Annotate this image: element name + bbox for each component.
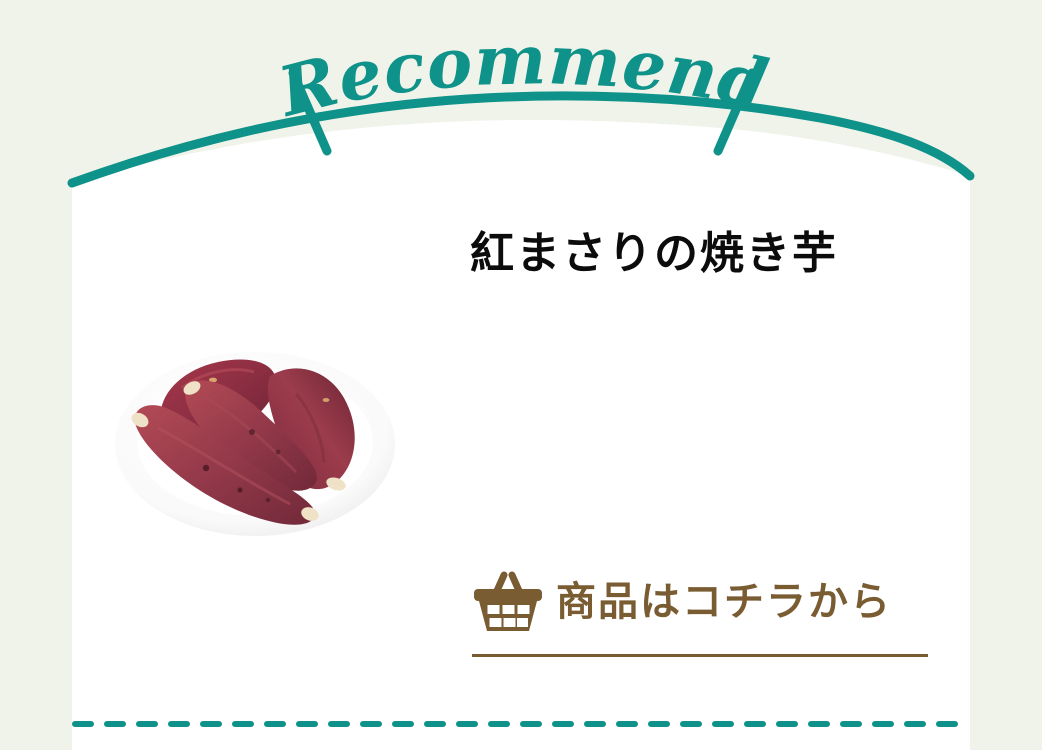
cta-underline <box>472 654 928 657</box>
product-photo <box>110 340 400 540</box>
product-title: 紅まさりの焼き芋 <box>470 228 930 281</box>
shopping-basket-icon <box>472 571 544 633</box>
recommend-header: Recommend <box>0 34 1042 154</box>
cta-label: 商品はコチラから <box>556 582 892 622</box>
recommend-banner: Recommend 紅まさりの焼き芋 <box>0 0 1042 750</box>
bottom-dashed-divider <box>72 721 970 727</box>
recommend-label-text: Recommend <box>269 20 775 133</box>
recommend-label: Recommend <box>269 20 775 133</box>
cta-block[interactable]: 商品はコチラから <box>472 566 932 666</box>
